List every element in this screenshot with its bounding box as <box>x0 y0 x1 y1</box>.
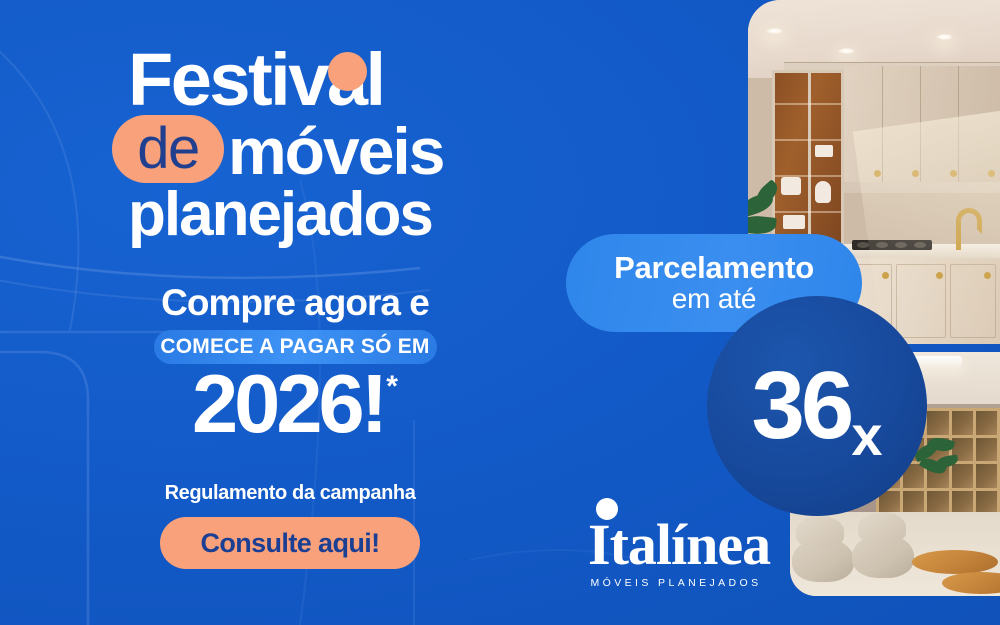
installments-badge-line2: em até <box>672 284 756 314</box>
headline-line3: planejados <box>128 185 528 246</box>
kitchen-upper-cabinets <box>844 66 1000 182</box>
kitchen-faucet-icon <box>956 208 982 248</box>
headline-line2-row: de móveis <box>128 120 528 183</box>
logo-dot-icon <box>596 498 618 520</box>
left-content-column: Festival de móveis planejados Compre ago… <box>0 0 580 625</box>
coffee-table <box>912 550 998 574</box>
installments-count-circle: 36 x <box>707 296 927 516</box>
offer-line1: Compre agora e <box>130 284 460 323</box>
installments-badge-line1: Parcelamento <box>614 252 814 284</box>
offer-year: 2026! <box>192 362 384 447</box>
kitchen-cooktop <box>852 240 932 250</box>
headline-line2: móveis <box>228 114 443 188</box>
brand-tagline: MÓVEIS PLANEJADOS <box>588 577 764 589</box>
accent-dot-icon <box>328 52 367 91</box>
offer-asterisk: * <box>386 372 398 402</box>
headline-pill-de: de <box>112 115 224 183</box>
offer-year-row: 2026! * <box>130 362 460 447</box>
consult-here-button[interactable]: Consulte aqui! <box>160 517 420 569</box>
installments-suffix: x <box>851 408 882 464</box>
promo-banner: Parcelamento em até 36 x Festival de móv… <box>0 0 1000 625</box>
offer-block: Compre agora e COMECE A PAGAR SÓ EM 2026… <box>130 284 460 447</box>
cta-block: Regulamento da campanha Consulte aqui! <box>130 482 450 569</box>
headline-block: Festival de móveis planejados <box>128 46 528 246</box>
armchair-back <box>858 512 906 542</box>
brand-name-text: Italínea <box>588 512 770 577</box>
cta-label: Regulamento da campanha <box>130 482 450 505</box>
ceiling-spotlight-icon <box>936 34 953 40</box>
ceiling-spotlight-icon <box>766 28 783 34</box>
ceiling-spotlight-icon <box>838 48 855 54</box>
brand-name: Italínea <box>588 516 764 574</box>
headline-line1: Festival <box>128 46 528 114</box>
armchair-back <box>796 516 844 546</box>
brand-logo: Italínea MÓVEIS PLANEJADOS <box>588 516 764 589</box>
installments-number: 36 <box>752 358 851 454</box>
